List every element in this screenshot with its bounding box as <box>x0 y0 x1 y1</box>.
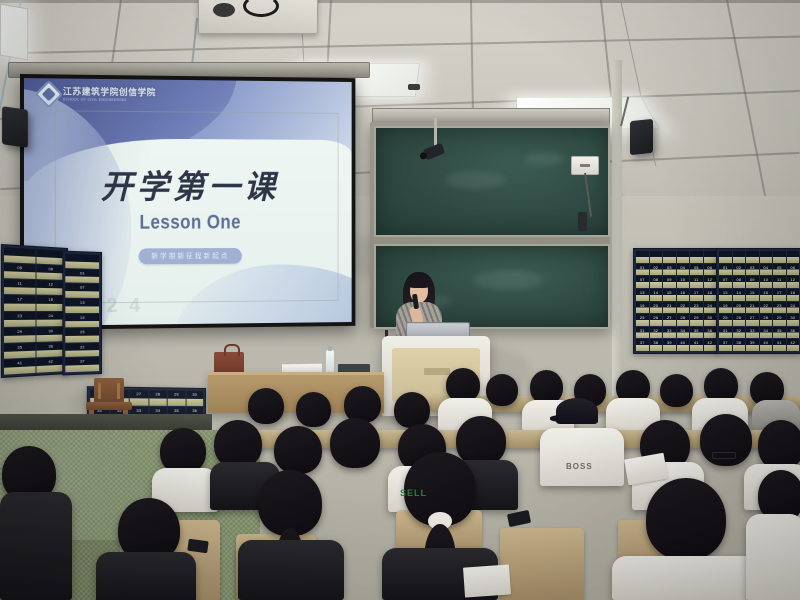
phone-pocket[interactable] <box>65 254 99 269</box>
phone-pocket[interactable]: 34 <box>760 327 773 339</box>
phone-pocket[interactable]: 03 <box>663 264 676 276</box>
student-head <box>660 374 693 407</box>
phone-pocket[interactable] <box>650 251 663 263</box>
phone-pocket[interactable]: 06 <box>787 264 800 276</box>
student-head <box>274 426 322 474</box>
student-torso <box>612 556 762 600</box>
phone-pocket[interactable]: 22 <box>760 302 773 314</box>
phone-pocket[interactable]: 04 <box>760 264 773 276</box>
phone-pocket[interactable]: 30 <box>787 314 800 326</box>
phone-pocket[interactable]: 28 <box>677 314 690 326</box>
lecture-hall-photo: 江苏建筑学院创信学院 SCHOOL OF CIVIL ENGINEERING 开… <box>0 0 800 600</box>
phone-pocket[interactable]: 19 <box>65 314 99 328</box>
phone-pocket[interactable]: 15 <box>663 289 676 301</box>
ceiling-projector <box>198 0 318 34</box>
phone-pocket[interactable]: 29 <box>168 390 185 406</box>
phone-pocket[interactable]: 19 <box>636 302 649 314</box>
student-torso <box>238 540 344 600</box>
phone-pocket[interactable]: 17 <box>690 289 703 301</box>
phone-pocket[interactable] <box>787 251 800 263</box>
phone-pocket[interactable]: 31 <box>65 343 99 358</box>
phone-pocket[interactable]: 14 <box>650 289 663 301</box>
phone-pocket[interactable]: 16 <box>677 289 690 301</box>
phone-pocket[interactable]: 08 <box>650 276 663 288</box>
phone-pocket-board-right-b: 0102030405060708091011121314151617181920… <box>716 248 800 354</box>
phone-pocket[interactable]: 31 <box>636 327 649 339</box>
student-torso <box>746 514 800 600</box>
phone-pocket[interactable] <box>760 251 773 263</box>
school-logo: 江苏建筑学院创信学院 SCHOOL OF CIVIL ENGINEERING <box>39 84 156 105</box>
phone-pocket[interactable]: 21 <box>663 302 676 314</box>
phone-pocket[interactable]: 29 <box>690 314 703 326</box>
phone-pocket[interactable]: 23 <box>690 302 703 314</box>
phone-pocket[interactable] <box>36 249 65 265</box>
phone-pocket[interactable]: 11 <box>4 279 35 294</box>
phone-pocket[interactable]: 26 <box>650 314 663 326</box>
phone-pocket[interactable]: 24 <box>704 302 717 314</box>
phone-pocket[interactable]: 18 <box>704 289 717 301</box>
phone-pocket[interactable]: 11 <box>690 276 703 288</box>
phone-pocket[interactable]: 41 <box>4 358 35 374</box>
phone-pocket[interactable]: 42 <box>704 339 717 351</box>
phone-pocket[interactable]: 33 <box>746 327 759 339</box>
student-handout <box>463 564 511 597</box>
phone-pocket[interactable]: 19 <box>719 302 732 314</box>
phone-pocket[interactable]: 30 <box>186 391 203 407</box>
chair-seat <box>86 402 132 410</box>
phone-pocket[interactable]: 24 <box>787 302 800 314</box>
student-head <box>486 374 518 406</box>
phone-pocket[interactable]: 01 <box>719 264 732 276</box>
phone-pocket[interactable] <box>773 251 786 263</box>
phone-pocket[interactable]: 39 <box>663 339 676 351</box>
phone-pocket[interactable]: 31 <box>719 327 732 339</box>
student-head <box>446 368 480 402</box>
podium-name-plate <box>424 368 450 375</box>
phone-pocket[interactable]: 26 <box>733 314 746 326</box>
ceiling-light-panel <box>0 4 28 61</box>
school-logo-mark-icon <box>35 80 63 108</box>
phone-pocket[interactable]: 11 <box>773 276 786 288</box>
phone-pocket[interactable]: 38 <box>733 339 746 351</box>
phone-pocket[interactable]: 30 <box>36 327 65 342</box>
phone-pocket[interactable]: 18 <box>787 289 800 301</box>
phone-pocket[interactable]: 07 <box>719 276 732 288</box>
shirt-text-sell: SELL <box>400 488 427 498</box>
student-glasses-icon <box>712 452 736 459</box>
presenter-fringe <box>407 276 431 288</box>
phone-pocket[interactable] <box>4 247 35 263</box>
phone-pocket[interactable]: 15 <box>746 289 759 301</box>
student-head <box>394 392 430 428</box>
phone-pocket[interactable]: 39 <box>746 339 759 351</box>
phone-pocket[interactable]: 05 <box>690 264 703 276</box>
phone-pocket[interactable]: 36 <box>704 327 717 339</box>
phone-pocket[interactable] <box>719 251 732 263</box>
phone-pocket[interactable]: 10 <box>677 276 690 288</box>
phone-pocket[interactable]: 14 <box>733 289 746 301</box>
student-head-ponytail <box>258 470 322 536</box>
wall-speaker-right <box>630 119 653 155</box>
phone-pocket[interactable] <box>690 251 703 263</box>
phone-pocket[interactable] <box>663 251 676 263</box>
phone-pocket[interactable]: 06 <box>36 265 65 280</box>
student-head <box>456 416 506 466</box>
phone-pocket[interactable]: 42 <box>36 357 65 373</box>
phone-pocket[interactable]: 13 <box>719 289 732 301</box>
phone-pocket[interactable]: 35 <box>773 327 786 339</box>
phone-pocket[interactable]: 08 <box>733 276 746 288</box>
student-head <box>758 420 800 470</box>
shirt-text-boss: BOSS <box>566 462 593 471</box>
phone-pocket[interactable]: 17 <box>773 289 786 301</box>
phone-pocket[interactable]: 30 <box>704 314 717 326</box>
school-logo-chinese-text: 江苏建筑学院创信学院 <box>63 87 156 97</box>
student-head <box>330 418 380 468</box>
phone-pocket[interactable]: 25 <box>719 314 732 326</box>
student-head <box>296 392 331 427</box>
phone-pocket[interactable]: 23 <box>773 302 786 314</box>
phone-pocket[interactable]: 10 <box>760 276 773 288</box>
phone-pocket[interactable]: 18 <box>36 296 65 311</box>
phone-pocket[interactable]: 36 <box>36 342 65 357</box>
phone-pocket[interactable]: 35 <box>690 327 703 339</box>
phone-pocket[interactable]: 41 <box>690 339 703 351</box>
student-head <box>530 370 563 404</box>
student-torso-boss-shirt <box>540 428 624 486</box>
phone-pocket[interactable]: 32 <box>650 327 663 339</box>
phone-pocket-board-left-b: 01071319253137 <box>62 251 102 376</box>
phone-pocket[interactable]: 09 <box>746 276 759 288</box>
wall-speaker-left <box>2 106 28 148</box>
phone-pocket[interactable]: 37 <box>65 357 99 372</box>
phone-pocket[interactable]: 01 <box>636 264 649 276</box>
phone-pocket[interactable]: 28 <box>760 314 773 326</box>
phone-pocket[interactable]: 29 <box>4 327 35 342</box>
smoke-detector-icon <box>408 84 420 90</box>
phone-pocket[interactable]: 41 <box>773 339 786 351</box>
phone-pocket[interactable]: 09 <box>663 276 676 288</box>
phone-pocket[interactable]: 05 <box>773 264 786 276</box>
slide-title-chinese: 开学第一课 <box>24 160 352 208</box>
phone-pocket[interactable]: 27 <box>663 314 676 326</box>
phone-pocket[interactable]: 02 <box>733 264 746 276</box>
phone-pocket[interactable] <box>704 251 717 263</box>
phone-pocket[interactable]: 32 <box>733 327 746 339</box>
phone-pocket[interactable]: 38 <box>650 339 663 351</box>
phone-pocket[interactable]: 07 <box>65 284 99 298</box>
student-cap <box>556 398 598 424</box>
phone-pocket[interactable]: 04 <box>677 264 690 276</box>
phone-pocket[interactable]: 16 <box>760 289 773 301</box>
phone-pocket[interactable]: 34 <box>677 327 690 339</box>
student-head <box>646 478 726 560</box>
phone-pocket[interactable]: 25 <box>65 328 99 342</box>
desk-water-bottle <box>326 350 334 374</box>
phone-pocket[interactable]: 05 <box>4 263 35 279</box>
phone-pocket[interactable]: 21 <box>746 302 759 314</box>
slide-title-english: Lesson One <box>44 212 332 235</box>
school-logo-english-text: SCHOOL OF CIVIL ENGINEERING <box>63 98 156 102</box>
phone-pocket[interactable]: 20 <box>650 302 663 314</box>
student-head <box>248 388 284 424</box>
phone-pocket[interactable]: 06 <box>704 264 717 276</box>
phone-pocket[interactable]: 01 <box>65 269 99 284</box>
phone-pocket[interactable]: 07 <box>636 276 649 288</box>
phone-pocket[interactable]: 40 <box>677 339 690 351</box>
phone-pocket[interactable]: 36 <box>787 327 800 339</box>
phone-pocket[interactable] <box>746 251 759 263</box>
phone-pocket[interactable] <box>636 251 649 263</box>
phone-pocket[interactable]: 13 <box>636 289 649 301</box>
blackboard-panel-upper <box>374 126 610 237</box>
student-head <box>214 420 262 468</box>
phone-pocket[interactable]: 27 <box>130 390 148 406</box>
phone-pocket[interactable]: 23 <box>4 312 35 327</box>
phone-pocket[interactable]: 12 <box>704 276 717 288</box>
phone-pocket[interactable]: 37 <box>719 339 732 351</box>
phone-pocket[interactable]: 28 <box>149 390 167 406</box>
phone-pocket[interactable]: 22 <box>677 302 690 314</box>
phone-pocket[interactable]: 42 <box>787 339 800 351</box>
phone-pocket[interactable] <box>733 251 746 263</box>
slide-subtitle-badge: 新学期新征程新起点 <box>139 248 242 264</box>
seat-back <box>500 528 584 600</box>
phone-pocket[interactable]: 35 <box>4 343 35 359</box>
phone-pocket[interactable]: 12 <box>787 276 800 288</box>
phone-pocket[interactable]: 27 <box>746 314 759 326</box>
student-phone <box>187 539 208 554</box>
phone-pocket[interactable]: 03 <box>746 264 759 276</box>
phone-pocket-board-right-a: 0102030405060708091011121314151617181920… <box>633 248 719 354</box>
phone-pocket-board-left-a: 0506111217182324293035364142 <box>1 244 68 378</box>
phone-pocket[interactable]: 29 <box>773 314 786 326</box>
phone-pocket[interactable]: 13 <box>65 299 99 313</box>
phone-pocket[interactable] <box>677 251 690 263</box>
phone-pocket[interactable]: 20 <box>733 302 746 314</box>
phone-pocket[interactable]: 33 <box>663 327 676 339</box>
phone-pocket[interactable]: 37 <box>636 339 649 351</box>
student-torso <box>0 492 72 600</box>
phone-pocket[interactable]: 12 <box>36 280 65 295</box>
chair-backrest <box>94 378 124 404</box>
phone-pocket[interactable]: 24 <box>36 312 65 327</box>
phone-pocket[interactable]: 17 <box>4 295 35 310</box>
phone-pocket[interactable]: 40 <box>760 339 773 351</box>
phone-pocket[interactable]: 25 <box>636 314 649 326</box>
student-torso <box>96 552 196 600</box>
hanging-power-adapter <box>578 212 587 231</box>
phone-pocket[interactable]: 02 <box>650 264 663 276</box>
